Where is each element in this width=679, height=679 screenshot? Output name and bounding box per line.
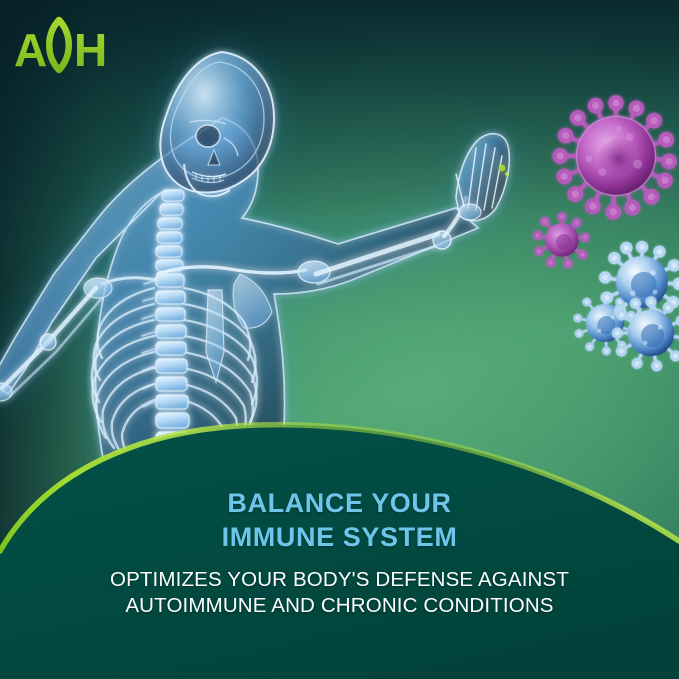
subheadline-line-1: OPTIMIZES YOUR BODY'S DEFENSE AGAINST — [110, 568, 569, 591]
subheadline-line-2: AUTOIMMUNE AND CHRONIC CONDITIONS — [0, 593, 679, 619]
headline-line-2: IMMUNE SYSTEM — [0, 520, 679, 554]
headline-line-1: BALANCE YOUR — [227, 488, 451, 518]
brand-logo[interactable]: A H — [12, 14, 110, 76]
banner-headline: BALANCE YOUR IMMUNE SYSTEM — [0, 486, 679, 554]
banner-subheadline: OPTIMIZES YOUR BODY'S DEFENSE AGAINST AU… — [0, 567, 679, 619]
logo-letter-h: H — [74, 24, 107, 76]
logo-leaf-icon — [49, 20, 69, 70]
logo-letter-a: A — [14, 24, 47, 76]
banner-image: BALANCE YOUR IMMUNE SYSTEM OPTIMIZES YOU… — [0, 0, 679, 679]
